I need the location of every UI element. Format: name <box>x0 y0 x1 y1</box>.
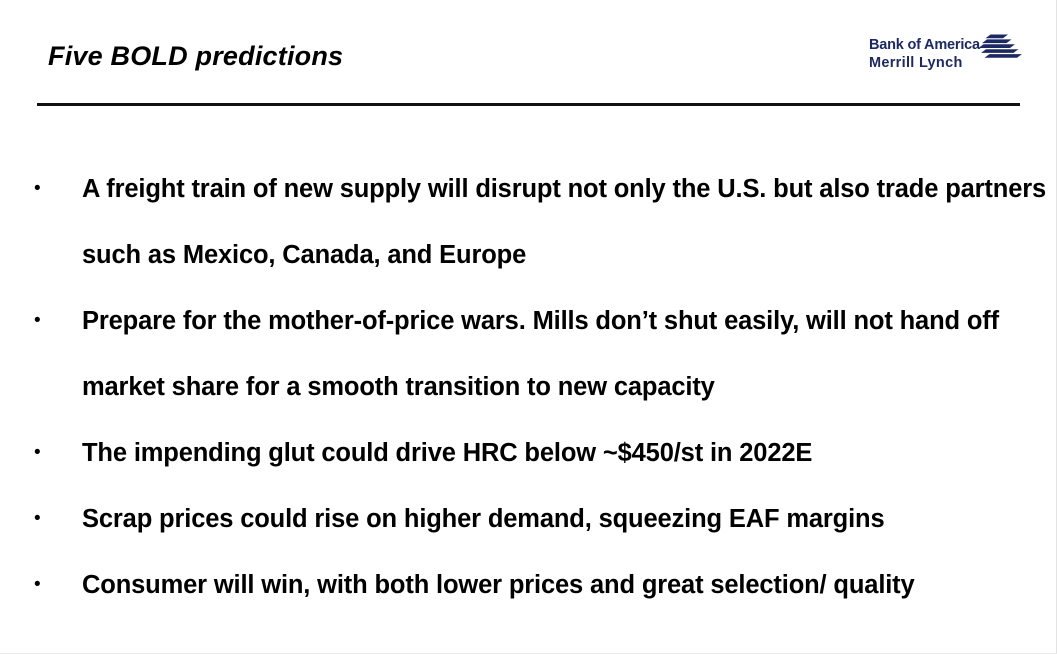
list-item: • A freight train of new supply will dis… <box>0 156 1057 288</box>
bullet-point-icon: • <box>34 288 46 354</box>
list-item-text: A freight train of new supply will disru… <box>82 156 1057 288</box>
bullet-point-icon: • <box>34 420 46 486</box>
bofa-flag-emblem-icon <box>977 34 1025 62</box>
list-item-text: Consumer will win, with both lower price… <box>82 552 1057 618</box>
logo-text-merrill-lynch: Merrill Lynch <box>869 56 963 71</box>
list-item: • The impending glut could drive HRC bel… <box>0 420 1057 486</box>
header-divider <box>37 103 1020 106</box>
list-item: • Prepare for the mother-of-price wars. … <box>0 288 1057 420</box>
bullet-point-icon: • <box>34 156 46 222</box>
bullet-point-icon: • <box>34 486 46 552</box>
list-item-text: Prepare for the mother-of-price wars. Mi… <box>82 288 1057 420</box>
list-item-text: Scrap prices could rise on higher demand… <box>82 486 1057 552</box>
bank-of-america-merrill-lynch-logo: Bank of America Merrill Lynch <box>869 34 1024 80</box>
list-item: • Consumer will win, with both lower pri… <box>0 552 1057 618</box>
bullet-point-icon: • <box>34 552 46 618</box>
bullet-list: • A freight train of new supply will dis… <box>0 156 1057 618</box>
presentation-slide: Five BOLD predictions Bank of America Me… <box>0 0 1057 654</box>
list-item: • Scrap prices could rise on higher dema… <box>0 486 1057 552</box>
list-item-text: The impending glut could drive HRC below… <box>82 420 1057 486</box>
logo-text-bank-of-america: Bank of America <box>869 38 980 53</box>
page-title: Five BOLD predictions <box>48 41 343 72</box>
